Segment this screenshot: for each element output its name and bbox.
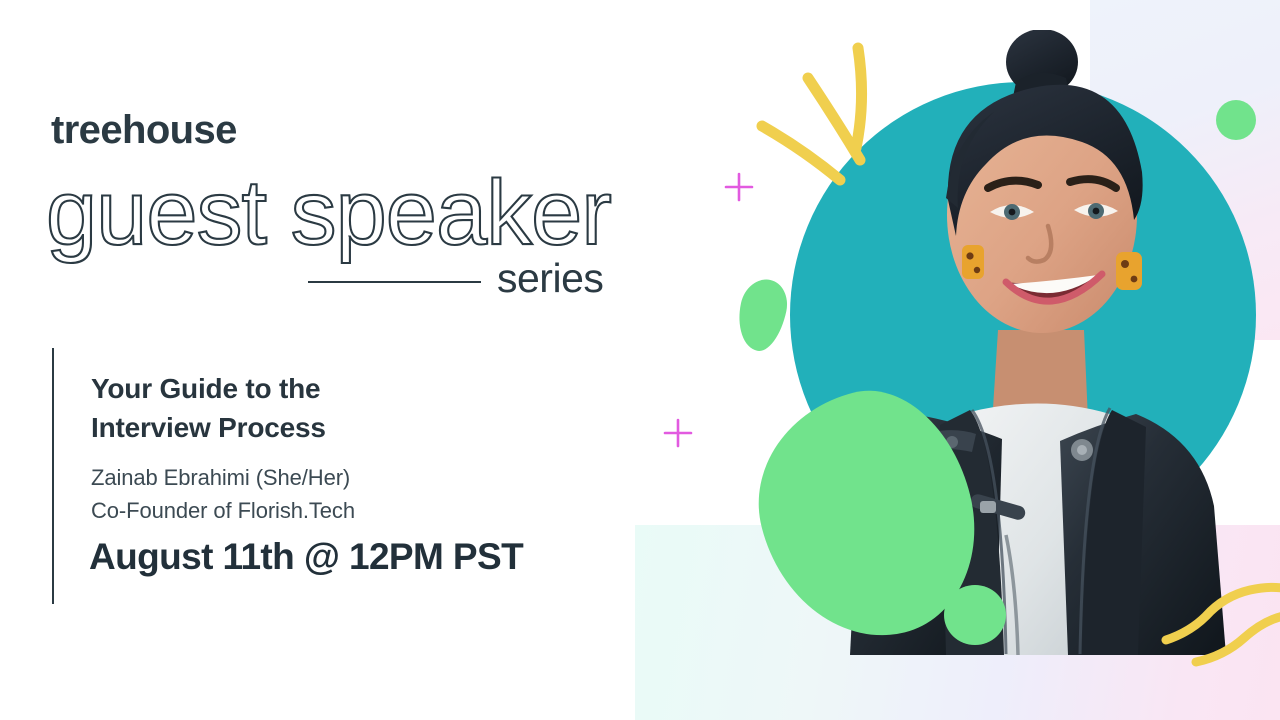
series-label: series — [497, 258, 603, 299]
green-bean-decor — [732, 275, 792, 355]
headline-outline-text: guest speaker — [46, 162, 611, 264]
yellow-wavy-lines-icon — [1160, 580, 1280, 675]
presentation-slide: treehouse guest speaker series Your Guid… — [0, 0, 1280, 720]
talk-title-line-2: Interview Process — [91, 409, 521, 448]
speaker-name: Zainab Ebrahimi (She/Her) — [91, 461, 350, 494]
green-circle-decor-bottom — [944, 585, 1006, 645]
speaker-role: Co-Founder of Florish.Tech — [91, 494, 355, 527]
event-datetime: August 11th @ 12PM PST — [89, 535, 523, 579]
magenta-plus-icon-middle — [663, 418, 693, 453]
yellow-sparkle-burst-icon — [740, 30, 920, 220]
talk-title: Your Guide to the Interview Process — [91, 370, 521, 447]
headline-guest-speaker: guest speaker — [36, 160, 676, 270]
magenta-plus-icon-top — [724, 172, 754, 207]
talk-title-line-1: Your Guide to the — [91, 370, 521, 409]
content-divider-rule — [52, 348, 54, 604]
brand-wordmark: treehouse — [51, 110, 237, 150]
series-divider-rule — [308, 281, 481, 283]
